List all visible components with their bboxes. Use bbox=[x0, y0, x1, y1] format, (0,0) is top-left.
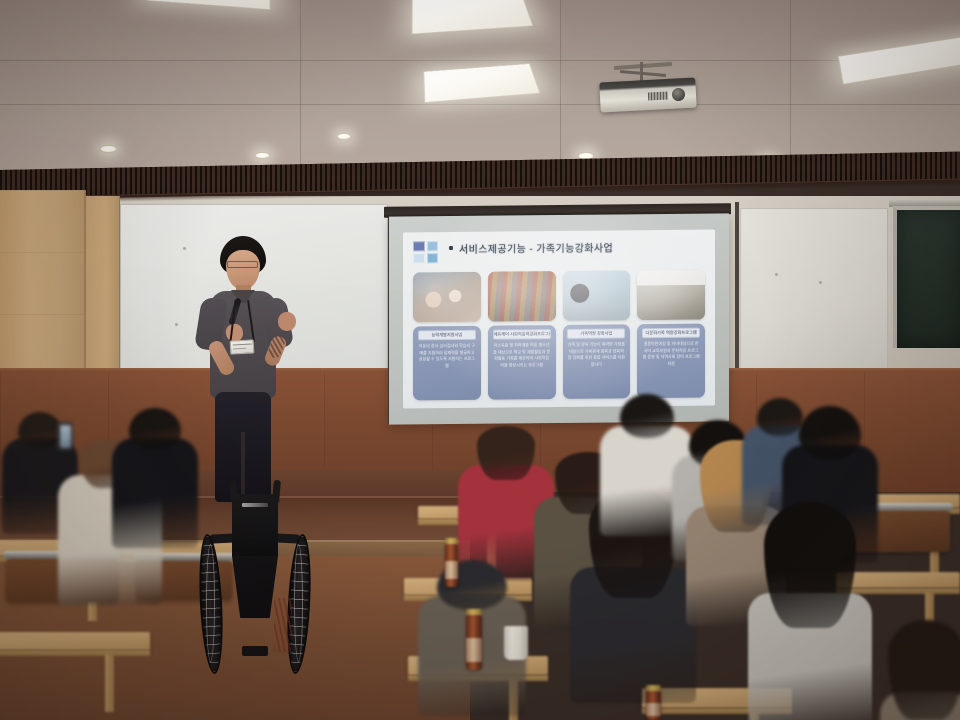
presenter bbox=[186, 236, 310, 512]
attendee-dark-suit-left bbox=[112, 408, 198, 560]
attendee-head bbox=[18, 412, 62, 448]
slide-card: 능력개발지원사업아동의 정서·심리검사와 학습지 구매를 지원하여 잠재력을 발… bbox=[413, 272, 481, 401]
eyeglasses bbox=[227, 261, 258, 268]
wheelchair-handrim bbox=[206, 544, 215, 662]
paper-cup bbox=[504, 626, 528, 660]
bottle-label bbox=[445, 561, 458, 579]
slide-card-heading: 다문화가족 역량강화프로그램 bbox=[642, 328, 700, 339]
slide-card-heading: 가족역량 강화사업 bbox=[567, 328, 625, 339]
presentation-slide: 서비스제공기능 - 가족기능강화사업 능력개발지원사업아동의 정서·심리검사와 … bbox=[403, 230, 715, 409]
bottle-cap bbox=[445, 538, 458, 544]
slide-card-text: 가족 및 양육 기능이 취약한 가정을 대상으로 가족관계 회복과 양육역량 강… bbox=[566, 342, 628, 369]
phone-screen bbox=[60, 425, 71, 448]
wheelchair-seat bbox=[232, 556, 278, 618]
bottle-label bbox=[646, 703, 661, 716]
desk-leg bbox=[105, 654, 114, 712]
slide-card-body: 가족역량 강화사업가족 및 양육 기능이 취약한 가정을 대상으로 가족관계 회… bbox=[563, 324, 631, 399]
smartphone bbox=[57, 422, 73, 450]
attendee-head bbox=[620, 394, 674, 438]
attendee-head bbox=[764, 502, 856, 628]
slide-card: 가족역량 강화사업가족 및 양육 기능이 취약한 가정을 대상으로 가족관계 회… bbox=[563, 270, 631, 399]
projection-screen: 서비스제공기능 - 가족기능강화사업 능력개발지원사업아동의 정서·심리검사와 … bbox=[389, 213, 729, 424]
slide-card: 에듀케어 사회적응력강화프로그램저소득층 및 취약계층 아동 청소년을 대상으로… bbox=[488, 271, 556, 400]
slide-card-photo bbox=[488, 271, 556, 322]
slide-card: 다문화가족 역량강화프로그램결혼이민여성 및 자녀대상으로 한국어 교육지원과 … bbox=[637, 270, 705, 399]
wheelchair-handrim bbox=[294, 544, 303, 662]
bottle-label bbox=[466, 638, 482, 662]
slide-card-heading: 에듀케어 사회적응력강화프로그램 bbox=[493, 329, 551, 340]
lecture-hall-scene: 서비스제공기능 - 가족기능강화사업 능력개발지원사업아동의 정서·심리검사와 … bbox=[0, 0, 960, 720]
attendee-striped-shirt bbox=[748, 502, 872, 720]
attendee-torso bbox=[112, 438, 198, 548]
slide-card-body: 능력개발지원사업아동의 정서·심리검사와 학습지 구매를 지원하여 잠재력을 발… bbox=[413, 326, 481, 401]
projector-vent bbox=[648, 91, 668, 100]
slide-card-text: 저소득층 및 취약계층 아동 청소년을 대상으로 학교 밖 체험활동과 문화활동… bbox=[491, 342, 553, 369]
wheelchair-footplate bbox=[242, 646, 268, 656]
bottle-cap bbox=[646, 685, 661, 691]
wheelchair-logo bbox=[242, 503, 268, 507]
chalkboard bbox=[893, 206, 960, 348]
slide-card-row: 능력개발지원사업아동의 정서·심리검사와 학습지 구매를 지원하여 잠재력을 발… bbox=[413, 270, 705, 401]
recessed-downlight bbox=[100, 145, 117, 153]
slide-logo-mark bbox=[413, 241, 438, 263]
slide-card-text: 결혼이민여성 및 자녀대상으로 한국어 교육지원과 문화적응 프로그램 운영 및… bbox=[640, 341, 702, 368]
slide-card-photo bbox=[563, 270, 631, 321]
attendee-head bbox=[888, 620, 960, 720]
attendee-far-right-edge bbox=[880, 620, 960, 720]
wheelchair bbox=[196, 478, 312, 690]
attendee-head bbox=[477, 426, 535, 480]
recessed-downlight bbox=[255, 152, 270, 159]
slide-card-heading: 능력개발지원사업 bbox=[418, 330, 476, 341]
desk-edge bbox=[0, 650, 150, 656]
attendee-head bbox=[129, 408, 181, 450]
desk bbox=[0, 632, 150, 650]
wheelchair-frame bbox=[274, 598, 292, 652]
wall-divider bbox=[735, 202, 739, 378]
slide-card-photo bbox=[637, 270, 705, 321]
slide-card-photo bbox=[413, 272, 481, 323]
bottle-cap bbox=[466, 609, 482, 615]
whiteboard-right bbox=[740, 208, 888, 372]
attendee-head bbox=[799, 406, 861, 460]
recessed-downlight bbox=[337, 133, 351, 140]
slide-card-text: 아동의 정서·심리검사와 학습지 구매를 지원하여 잠재력을 발굴하고 성장할 … bbox=[416, 343, 478, 370]
slide-card-body: 다문화가족 역량강화프로그램결혼이민여성 및 자녀대상으로 한국어 교육지원과 … bbox=[637, 324, 705, 399]
bullet-icon bbox=[449, 246, 453, 250]
slide-title: 서비스제공기능 - 가족기능강화사업 bbox=[459, 239, 613, 255]
presenter-face bbox=[226, 250, 260, 290]
presenter-right-hand bbox=[278, 312, 296, 331]
id-badge bbox=[230, 339, 255, 354]
slide-card-body: 에듀케어 사회적응력강화프로그램저소득층 및 취약계층 아동 청소년을 대상으로… bbox=[488, 325, 556, 400]
